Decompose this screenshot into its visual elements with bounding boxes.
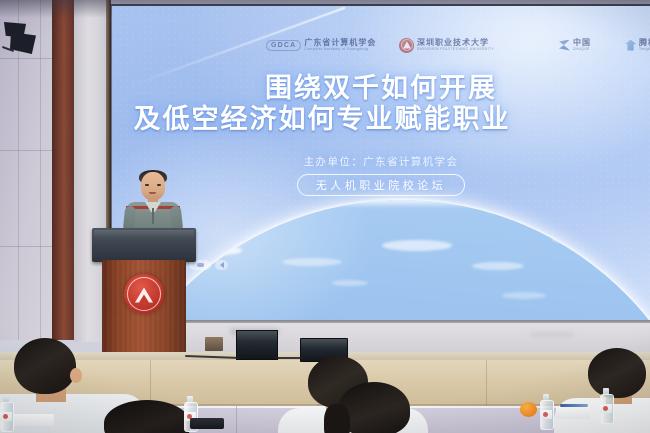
presenter-eye [145,184,149,186]
bottle-label [600,404,612,413]
presenter-head [141,172,165,200]
wall-trim [110,320,650,323]
presenter-eye [157,184,161,186]
attendee-center-low [328,382,448,433]
attendee-head [14,338,76,394]
notepad [14,414,54,426]
sponsor-name-en: Tengke [639,48,650,51]
sponsor-logo-szpt: 深圳职业技术大学 SHENZHEN POLYTECHNIC UNIVERSITY [399,38,494,53]
sponsor-logo-zhuque: 中国 ZHUQUE [559,39,591,51]
sponsor-name-cn: 中国 [573,39,591,47]
attendee-head [588,348,646,398]
sponsor-name-cn: 深圳职业技术大学 [417,39,494,47]
sponsor-name-cn: 腾科 [639,39,650,47]
szpt-seal-icon [399,38,414,53]
zhuque-bird-icon [559,40,570,51]
presenter [124,172,182,234]
tencent-cloud-icon [625,40,636,51]
sponsor-name-cn: 广东省计算机学会 [304,39,376,47]
wood-column [52,0,74,340]
slide-title-line-1: 围绕双千如何开展 [112,74,650,103]
gdca-wordmark-icon: GDCA [266,40,301,51]
attendee-head [104,400,190,433]
podium-desktop [92,228,196,262]
sponsor-logo-tencent: 腾科 Tengke [625,39,650,51]
sponsor-logo-strip: GDCA 广东省计算机学会 Computer Academy of Guangd… [112,32,650,58]
attendee-ear [70,368,82,383]
sponsor-name-en: Computer Academy of Guangdong [304,48,376,51]
sponsor-name-en: SHENZHEN POLYTECHNIC UNIVERSITY [417,48,494,51]
sponsor-name-en: ZHUQUE [573,48,591,51]
projection-screen: GDCA 广东省计算机学会 Computer Academy of Guangd… [112,6,650,320]
attendee-hair-strand [324,404,350,433]
emblem-triangle [135,287,153,302]
phone [190,418,224,429]
stage-box [205,337,223,351]
university-emblem-icon [124,274,164,314]
sponsor-logo-gdca: GDCA 广东省计算机学会 Computer Academy of Guangd… [266,39,376,51]
orange-fruit [520,402,537,417]
floor-monitor-left [236,330,278,360]
bottle-label [540,410,552,419]
presenter-mouth [149,192,156,194]
notepad [556,406,590,419]
presenter-placket [152,208,154,224]
conference-photo-scene: GDCA 广东省计算机学会 Computer Academy of Guangd… [0,0,650,433]
bottle-label [0,412,12,421]
wall-mark [530,332,574,337]
pen [560,404,588,407]
